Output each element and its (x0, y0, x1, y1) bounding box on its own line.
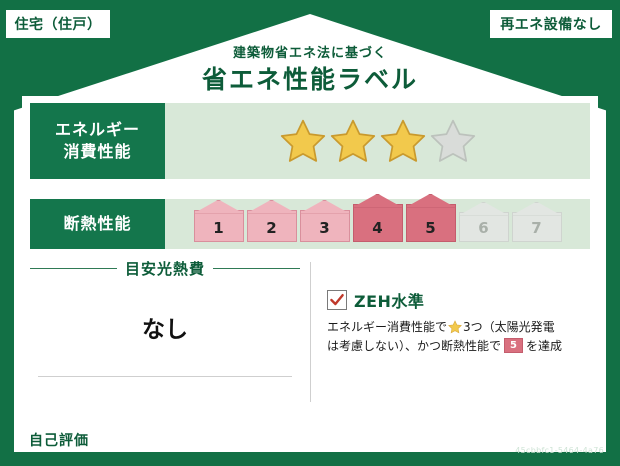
check-icon (329, 292, 345, 308)
zeh-description-line-2: は考慮しない）、かつ断熱性能で 5 を達成 (327, 337, 590, 356)
insulation-grade-4: 4 (353, 204, 403, 242)
lower-section: 目安光熱費 なし ZEH水準 エネルギー消費性能で (30, 258, 590, 406)
insulation-grade-1: 1 (194, 210, 244, 242)
row-energy-label-line1: エネルギー (55, 119, 140, 141)
star-icon-filled (330, 118, 376, 164)
insulation-grade-2: 2 (247, 210, 297, 242)
evaluation-date-label: 評価日 (449, 431, 488, 446)
label-title: 省エネ性能ラベル (0, 60, 620, 96)
evaluation-date-value: 2025年10月20日 (493, 431, 604, 446)
utility-cost-block: 目安光熱費 なし (30, 258, 310, 406)
utility-cost-heading: 目安光熱費 (30, 258, 310, 279)
self-evaluation-badge: 自己評価 (22, 428, 96, 452)
zeh-line2-text-a: は考慮しない）、かつ断熱性能で (327, 337, 501, 356)
insulation-grade-7: 7 (512, 212, 562, 242)
star-icon-filled (380, 118, 426, 164)
utility-cost-underline (38, 376, 292, 377)
zeh-heading: ZEH水準 (327, 288, 590, 312)
zeh-line1-text-b: 3つ（太陽光発電 (463, 318, 555, 337)
row-insulation-value: 1234567 (165, 199, 590, 249)
row-insulation-label-text: 断熱性能 (63, 213, 131, 235)
zeh-description: エネルギー消費性能で 3つ（太陽光発電 は考慮しない）、かつ断熱性能で 5 を達… (327, 318, 590, 355)
row-energy-performance: エネルギー 消費性能 (30, 103, 590, 179)
rule-line-right (213, 268, 300, 269)
zeh-line2-text-b: を達成 (526, 337, 562, 356)
zeh-description-line-1: エネルギー消費性能で 3つ（太陽光発電 (327, 318, 590, 337)
property-address: ハートフルタウン 船橋市新高根3丁目3164番(松戸) A号棟 (96, 432, 385, 448)
star-icon-empty (430, 118, 476, 164)
footer: 自己評価 ハートフルタウン 船橋市新高根3丁目3164番(松戸) A号棟 評価日… (0, 410, 620, 466)
evaluation-date: 評価日 2025年10月20日 (449, 427, 604, 446)
badge-building-type: 住宅（住戸） (6, 10, 110, 38)
star-rating (280, 118, 476, 164)
energy-performance-label: 住宅（住戸） 再エネ設備なし 建築物省エネ法に基づく 省エネ性能ラベル エネルギ… (0, 0, 620, 466)
row-insulation-performance: 断熱性能 1234567 (30, 199, 590, 249)
row-energy-label: エネルギー 消費性能 (30, 103, 165, 179)
zeh-checkbox (327, 290, 347, 310)
star-icon (448, 320, 462, 334)
zeh-block: ZEH水準 エネルギー消費性能で 3つ（太陽光発電 は考慮しない）、かつ断熱性能… (321, 258, 590, 406)
zeh-line1-text-a: エネルギー消費性能で (327, 318, 447, 337)
rule-line-left (30, 268, 117, 269)
label-subtitle: 建築物省エネ法に基づく (0, 42, 620, 61)
row-insulation-label: 断熱性能 (30, 199, 165, 249)
insulation-grade-6: 6 (459, 212, 509, 242)
insulation-grade-scale: 1234567 (194, 204, 562, 245)
zeh-title: ZEH水準 (354, 288, 424, 312)
utility-cost-value: なし (30, 310, 300, 344)
star-icon-filled (280, 118, 326, 164)
zeh-grade-badge: 5 (504, 338, 523, 353)
row-energy-value (165, 103, 590, 179)
insulation-grade-3: 3 (300, 210, 350, 242)
badge-renewable-equipment: 再エネ設備なし (490, 10, 612, 38)
insulation-grade-5: 5 (406, 204, 456, 242)
row-energy-label-line2: 消費性能 (63, 141, 131, 163)
section-divider (310, 262, 311, 402)
utility-cost-title: 目安光熱費 (125, 258, 205, 279)
evaluation-id: 45cbbfc1-5464-4a76 (515, 446, 604, 455)
